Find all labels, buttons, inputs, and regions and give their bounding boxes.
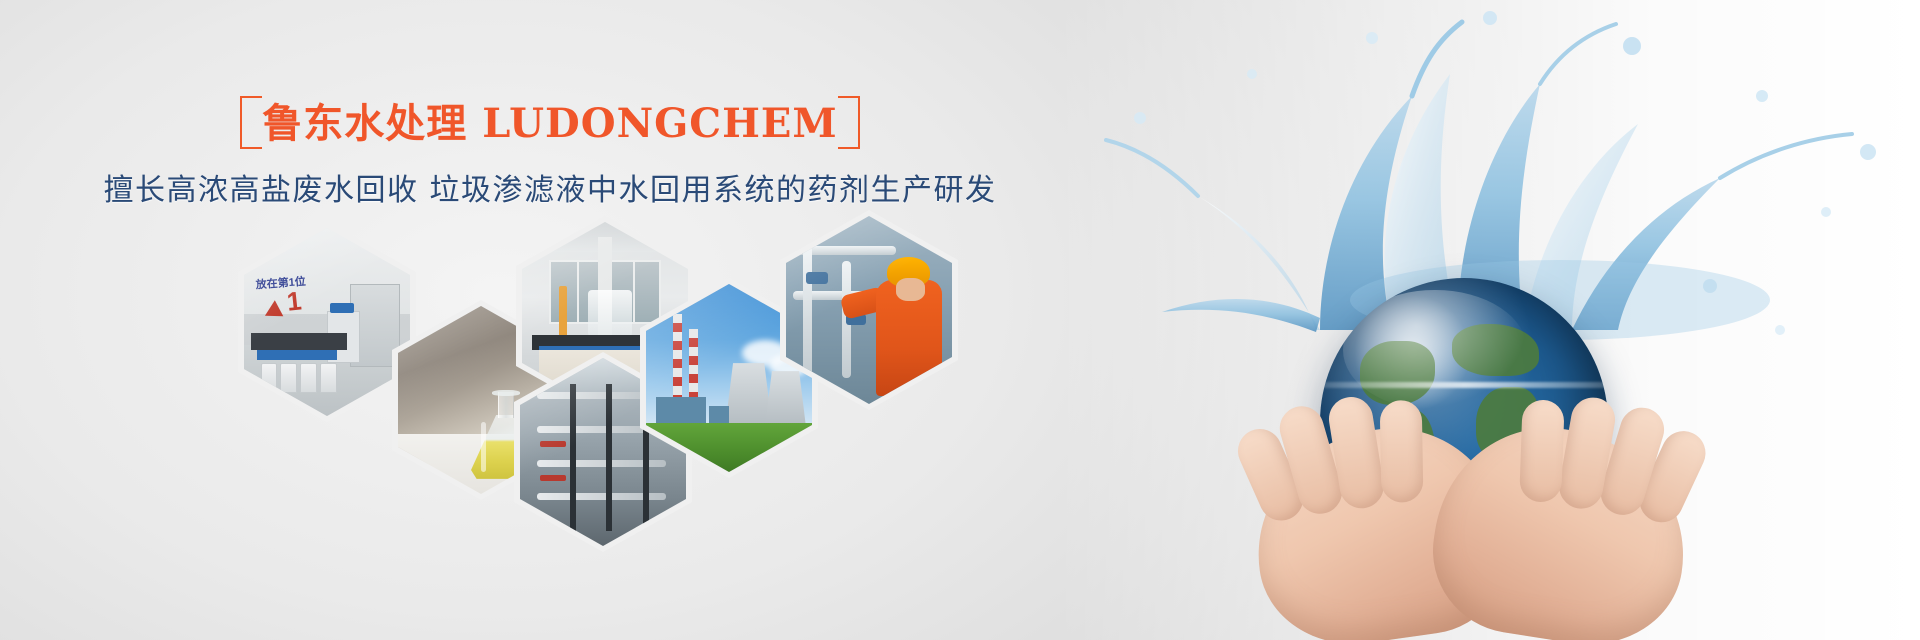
brand-title: 鲁东水处理 LUDONGCHEM: [262, 102, 837, 147]
brand-title-box: 鲁东水处理 LUDONGCHEM: [240, 96, 859, 149]
bracket-bottom-left-icon: [240, 115, 262, 149]
bracket-bottom-right-icon: [838, 115, 860, 149]
hero-banner: 鲁东水处理 LUDONGCHEM 擅长高浓高盐废水回收 垃圾渗滤液中水回用系统的…: [0, 0, 1920, 640]
brand-subtitle: 擅长高浓高盐废水回收 垃圾渗滤液中水回用系统的药剂生产研发: [0, 165, 1100, 209]
headline-block: 鲁东水处理 LUDONGCHEM 擅长高浓高盐废水回收 垃圾渗滤液中水回用系统的…: [0, 96, 1100, 209]
water-artwork: [1020, 0, 1920, 640]
hands-icon: [1256, 392, 1686, 640]
